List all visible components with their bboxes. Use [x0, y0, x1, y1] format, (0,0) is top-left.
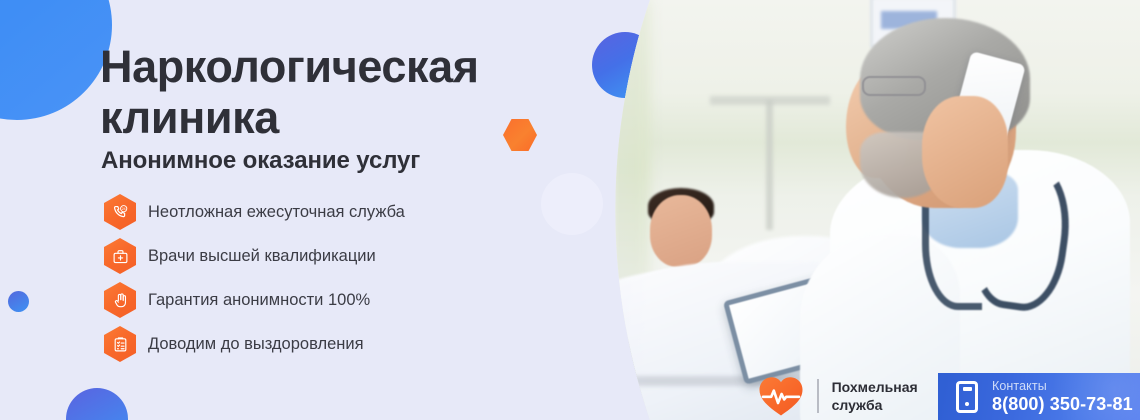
- photo-left-fade: [530, 0, 650, 420]
- list-item: Врачи высшей квалификации: [104, 238, 524, 274]
- doctor-hand: [922, 96, 1008, 208]
- svg-text:24: 24: [121, 207, 125, 211]
- room-window: [548, 0, 614, 300]
- hush-hand-icon: [104, 282, 136, 318]
- list-item-label: Доводим до выздоровления: [148, 335, 364, 354]
- page-subtitle: Анонимное оказание услуг: [101, 147, 420, 175]
- contact-phone-number[interactable]: 8(800) 350-73-81: [992, 394, 1133, 414]
- logo-divider: [817, 379, 819, 413]
- mobile-phone-icon: [956, 381, 978, 413]
- list-item-label: Гарантия анонимности 100%: [148, 291, 370, 310]
- clipboard-checklist-icon: [104, 326, 136, 362]
- contact-label: Контакты: [992, 379, 1133, 393]
- heart-pulse-icon: [758, 374, 804, 417]
- decorative-circle-top-left: [0, 0, 112, 120]
- phone-24h-icon: 24: [104, 194, 136, 230]
- list-item: Доводим до выздоровления: [104, 326, 524, 362]
- bed-foot-shadow: [530, 340, 640, 420]
- page-title: Наркологическая клиника: [100, 41, 530, 143]
- doctor-photo: [530, 0, 1140, 420]
- doctor-glasses-icon: [862, 76, 926, 96]
- list-item: 24 Неотложная ежесуточная служба: [104, 194, 524, 230]
- list-item: Гарантия анонимности 100%: [104, 282, 524, 318]
- brand-logo[interactable]: Похмельная служба: [758, 374, 918, 417]
- feature-list: 24 Неотложная ежесуточная служба Врачи в…: [104, 194, 524, 370]
- logo-label: Похмельная служба: [832, 378, 918, 414]
- contact-bar[interactable]: Контакты 8(800) 350-73-81: [938, 373, 1140, 420]
- patient-head: [650, 195, 712, 267]
- list-item-label: Врачи высшей квалификации: [148, 247, 376, 266]
- decorative-circle-small-left: [8, 291, 29, 312]
- decorative-circle-bottom-left: [66, 388, 128, 420]
- iv-pole: [766, 100, 773, 230]
- decorative-circle-faint: [541, 173, 603, 235]
- medical-bag-icon: [104, 238, 136, 274]
- promo-banner: Наркологическая клиника Анонимное оказан…: [0, 0, 1140, 420]
- list-item-label: Неотложная ежесуточная служба: [148, 203, 405, 222]
